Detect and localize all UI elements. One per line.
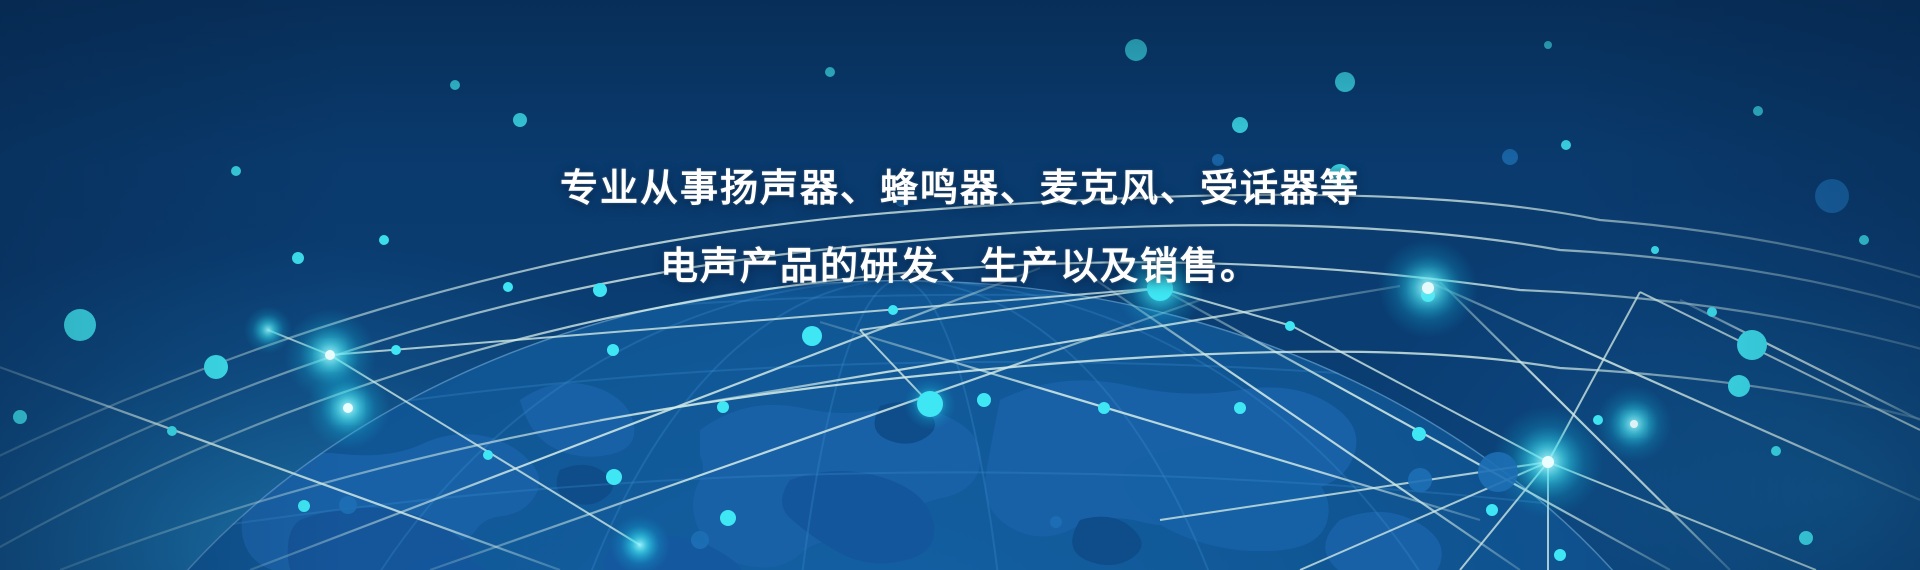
headline-line-1: 专业从事扬声器、蜂鸣器、麦克风、受话器等: [0, 150, 1920, 228]
headline-line-2: 电声产品的研发、生产以及销售。: [0, 228, 1920, 306]
headline-block: 专业从事扬声器、蜂鸣器、麦克风、受话器等 电声产品的研发、生产以及销售。: [0, 150, 1920, 306]
hero-banner: 专业从事扬声器、蜂鸣器、麦克风、受话器等 电声产品的研发、生产以及销售。: [0, 0, 1920, 570]
